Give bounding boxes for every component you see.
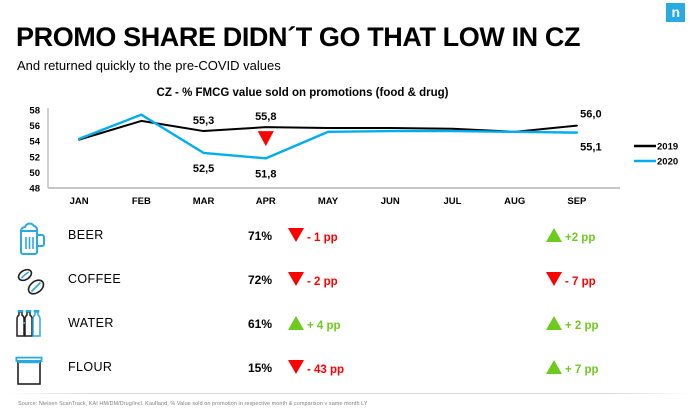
coffee-beans-icon <box>12 262 52 302</box>
y-axis-ticks: 485052545658 <box>29 106 40 195</box>
promo-share-value: 72% <box>248 273 272 287</box>
arrow-up-icon <box>288 316 304 330</box>
x-tick-label-mar: MAR <box>193 196 215 207</box>
table-row: WATER61%+ 4 pp+ 2 pp <box>0 304 700 348</box>
x-tick-label-jul: JUL <box>443 196 461 207</box>
arrow-down-icon <box>288 360 304 374</box>
arrow-down-icon <box>288 272 304 286</box>
delta-month: - 1 pp <box>288 228 338 244</box>
delta-year: - 7 pp <box>546 272 596 288</box>
point-value-label: 56,0 <box>580 109 601 121</box>
x-tick-label-feb: FEB <box>132 196 151 207</box>
delta-year: + 2 pp <box>546 316 599 332</box>
delta-month: + 4 pp <box>288 316 341 332</box>
chart-annotations <box>258 131 274 146</box>
table-row: COFFEE72%- 2 pp- 7 pp <box>0 260 700 304</box>
delta-text: + 4 pp <box>307 320 341 332</box>
water-bottles-icon <box>12 306 52 346</box>
category-label: COFFEE <box>68 272 121 286</box>
promo-share-value: 61% <box>248 317 272 331</box>
delta-text: - 2 pp <box>307 276 338 288</box>
chart-legend: 20192020 <box>634 142 678 168</box>
category-label: BEER <box>68 228 104 242</box>
arrow-up-icon <box>546 360 562 374</box>
y-tick-label: 54 <box>29 137 40 148</box>
category-label: FLOUR <box>68 360 112 374</box>
point-value-label: 51,8 <box>255 168 276 180</box>
x-tick-label-apr: APR <box>256 196 276 207</box>
chart-series <box>79 115 577 159</box>
point-value-label: 55,3 <box>193 115 214 127</box>
x-tick-label-jun: JUN <box>381 196 400 207</box>
arrow-down-icon <box>288 228 304 242</box>
delta-month: - 2 pp <box>288 272 338 288</box>
flour-canister-icon <box>12 350 52 390</box>
delta-text: - 7 pp <box>565 276 596 288</box>
table-row: FLOUR15%- 43 pp+ 7 pp <box>0 348 700 392</box>
point-value-label: 52,5 <box>193 163 214 175</box>
chart-axes <box>48 108 620 188</box>
y-tick-label: 56 <box>29 121 40 132</box>
point-value-label: 55,8 <box>255 111 276 123</box>
arrow-up-icon <box>546 316 562 330</box>
chart-title: CZ - % FMCG value sold on promotions (fo… <box>0 87 700 99</box>
page-title: PROMO SHARE DIDN´T GO THAT LOW IN CZ <box>16 22 580 53</box>
delta-text: + 7 pp <box>565 364 599 376</box>
series-line-2020 <box>79 115 577 159</box>
promo-share-value: 71% <box>248 229 272 243</box>
chart-point-labels: 55,355,856,052,551,855,1 <box>193 109 602 181</box>
arrow-down-icon <box>546 272 562 286</box>
legend-label-2019: 2019 <box>657 142 678 153</box>
category-table: BEER71%- 1 pp+2 ppCOFFEE72%- 2 pp- 7 ppW… <box>0 216 700 392</box>
promo-share-value: 15% <box>248 361 272 375</box>
legend-label-2020: 2020 <box>657 157 678 168</box>
x-tick-label-aug: AUG <box>504 196 525 207</box>
beer-mug-icon <box>12 218 52 258</box>
y-tick-label: 58 <box>29 106 40 117</box>
x-axis-labels: JANFEBMARAPRMAYJUNJULAUGSEP <box>0 192 700 210</box>
page-subtitle: And returned quickly to the pre-COVID va… <box>17 58 281 73</box>
table-row: BEER71%- 1 pp+2 pp <box>0 216 700 260</box>
x-tick-label-may: MAY <box>318 196 339 207</box>
x-tick-label-sep: SEP <box>567 196 587 207</box>
delta-text: + 2 pp <box>565 320 599 332</box>
point-value-label: 55,1 <box>580 142 601 154</box>
footer-divider <box>8 393 692 394</box>
delta-text: - 1 pp <box>307 232 338 244</box>
delta-month: - 43 pp <box>288 360 344 376</box>
delta-year: +2 pp <box>546 228 595 244</box>
y-tick-label: 52 <box>29 152 40 163</box>
source-note: Source: Nielsen ScanTrack, KAI HM/DM/Dru… <box>18 401 368 407</box>
delta-year: + 7 pp <box>546 360 599 376</box>
delta-text: - 43 pp <box>307 364 344 376</box>
x-tick-label-jan: JAN <box>70 196 89 207</box>
y-tick-label: 50 <box>29 168 40 179</box>
category-label: WATER <box>68 316 114 330</box>
annotation-down-triangle <box>258 131 274 146</box>
slide: n PROMO SHARE DIDN´T GO THAT LOW IN CZ A… <box>0 0 700 418</box>
nielsen-logo: n <box>666 3 685 22</box>
delta-text: +2 pp <box>565 232 595 244</box>
arrow-up-icon <box>546 228 562 242</box>
